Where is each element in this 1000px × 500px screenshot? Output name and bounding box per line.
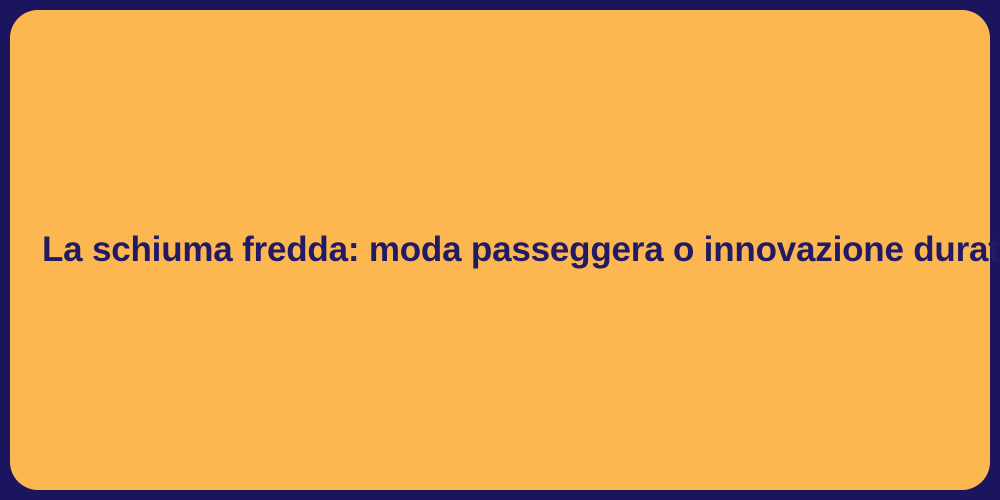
page-title: La schiuma fredda: moda passeggera o inn…: [42, 228, 1000, 272]
card-outer-border: La schiuma fredda: moda passeggera o inn…: [0, 0, 1000, 500]
card-surface: La schiuma fredda: moda passeggera o inn…: [10, 10, 990, 490]
